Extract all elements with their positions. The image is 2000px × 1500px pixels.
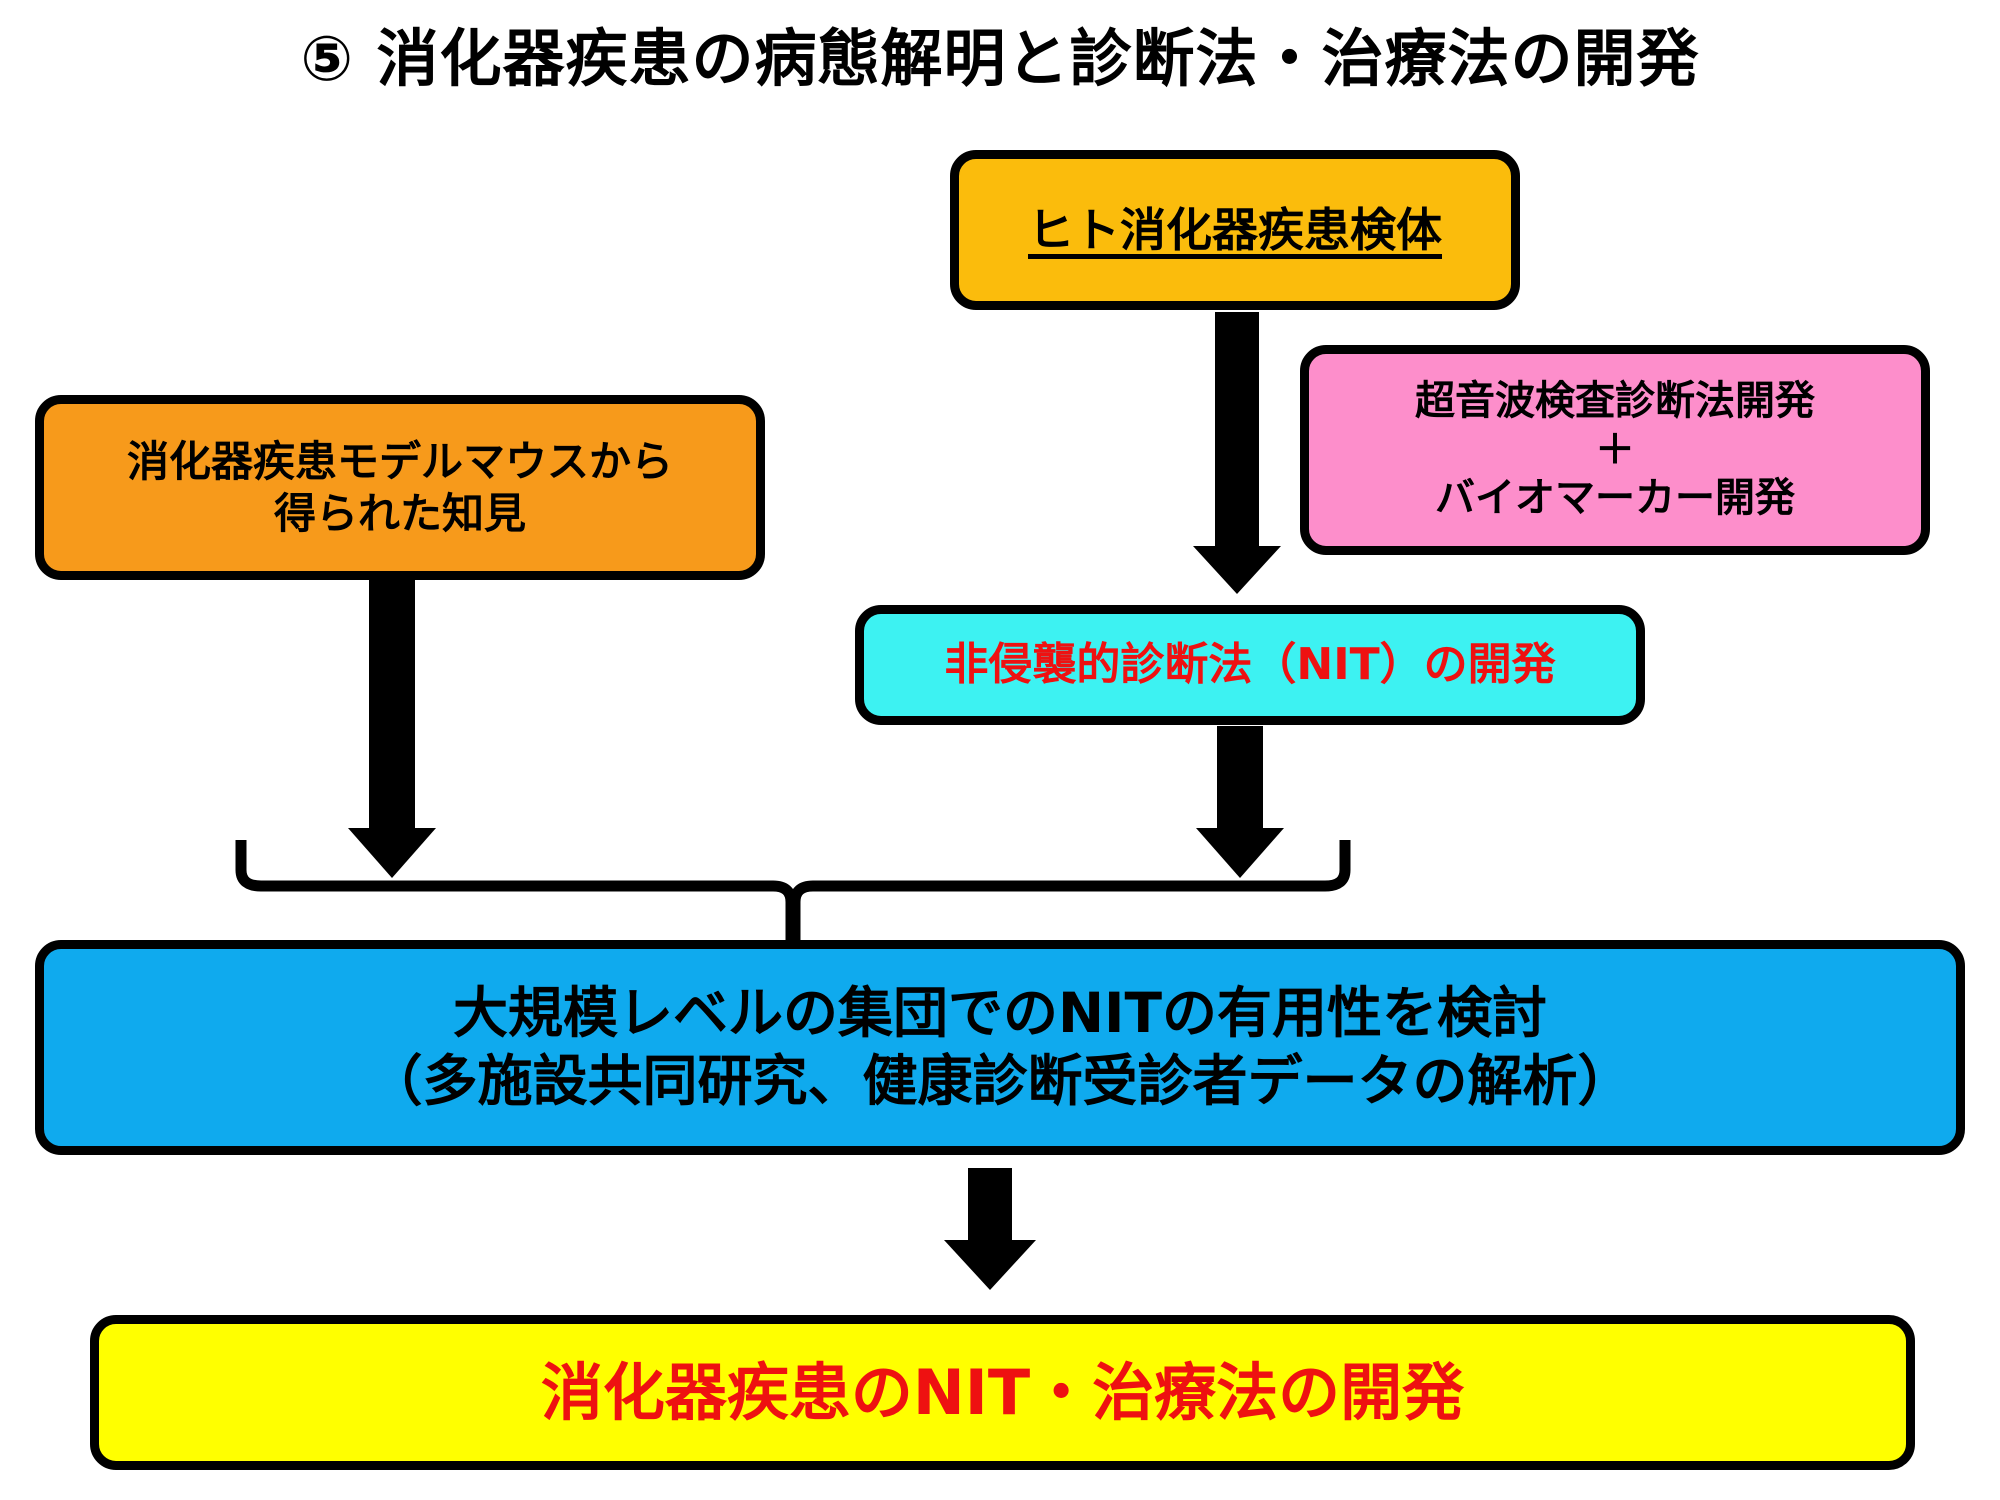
node-mouse-model-line1: 消化器疾患モデルマウスから (127, 436, 673, 487)
node-mouse-model: 消化器疾患モデルマウスから 得られた知見 (35, 395, 765, 580)
arrow-shaft (968, 1168, 1012, 1242)
node-ultrasound-plus: ＋ (1415, 426, 1815, 475)
node-ultrasound-line1: 超音波検査診断法開発 (1415, 377, 1815, 426)
down-arrow-specimen-to-nit (1193, 312, 1281, 594)
arrow-shaft (1217, 726, 1263, 830)
page-title: ⑤ 消化器疾患の病態解明と診断法・治療法の開発 (0, 8, 2000, 98)
node-nit-development-label: 非侵襲的診断法（NIT）の開発 (864, 638, 1636, 692)
node-human-specimen: ヒト消化器疾患検体 (950, 150, 1520, 310)
node-large-scale-study-line2: （多施設共同研究、健康診断受診者データの解析） (367, 1048, 1632, 1115)
down-arrow-study-to-goal (944, 1168, 1036, 1290)
node-large-scale-study: 大規模レベルの集団でのNITの有用性を検討 （多施設共同研究、健康診断受診者デー… (35, 940, 1965, 1155)
node-mouse-model-line2: 得られた知見 (127, 488, 673, 539)
diagram-canvas: ⑤ 消化器疾患の病態解明と診断法・治療法の開発 ヒト消化器疾患検体 超音波検査診… (0, 0, 2000, 1500)
node-ultrasound-biomarker: 超音波検査診断法開発 ＋ バイオマーカー開発 (1300, 345, 1930, 555)
arrow-shaft (369, 578, 415, 830)
node-ultrasound-line3: バイオマーカー開発 (1415, 474, 1815, 523)
merge-underbrace (225, 832, 1360, 950)
arrow-head (1193, 546, 1281, 594)
node-human-specimen-label: ヒト消化器疾患検体 (959, 202, 1511, 258)
node-large-scale-study-line1: 大規模レベルの集団でのNITの有用性を検討 (367, 980, 1632, 1047)
arrow-head (944, 1240, 1036, 1290)
node-final-goal-label: 消化器疾患のNIT・治療法の開発 (99, 1355, 1906, 1431)
node-nit-development: 非侵襲的診断法（NIT）の開発 (855, 605, 1645, 725)
arrow-shaft (1215, 312, 1259, 548)
node-final-goal: 消化器疾患のNIT・治療法の開発 (90, 1315, 1915, 1470)
